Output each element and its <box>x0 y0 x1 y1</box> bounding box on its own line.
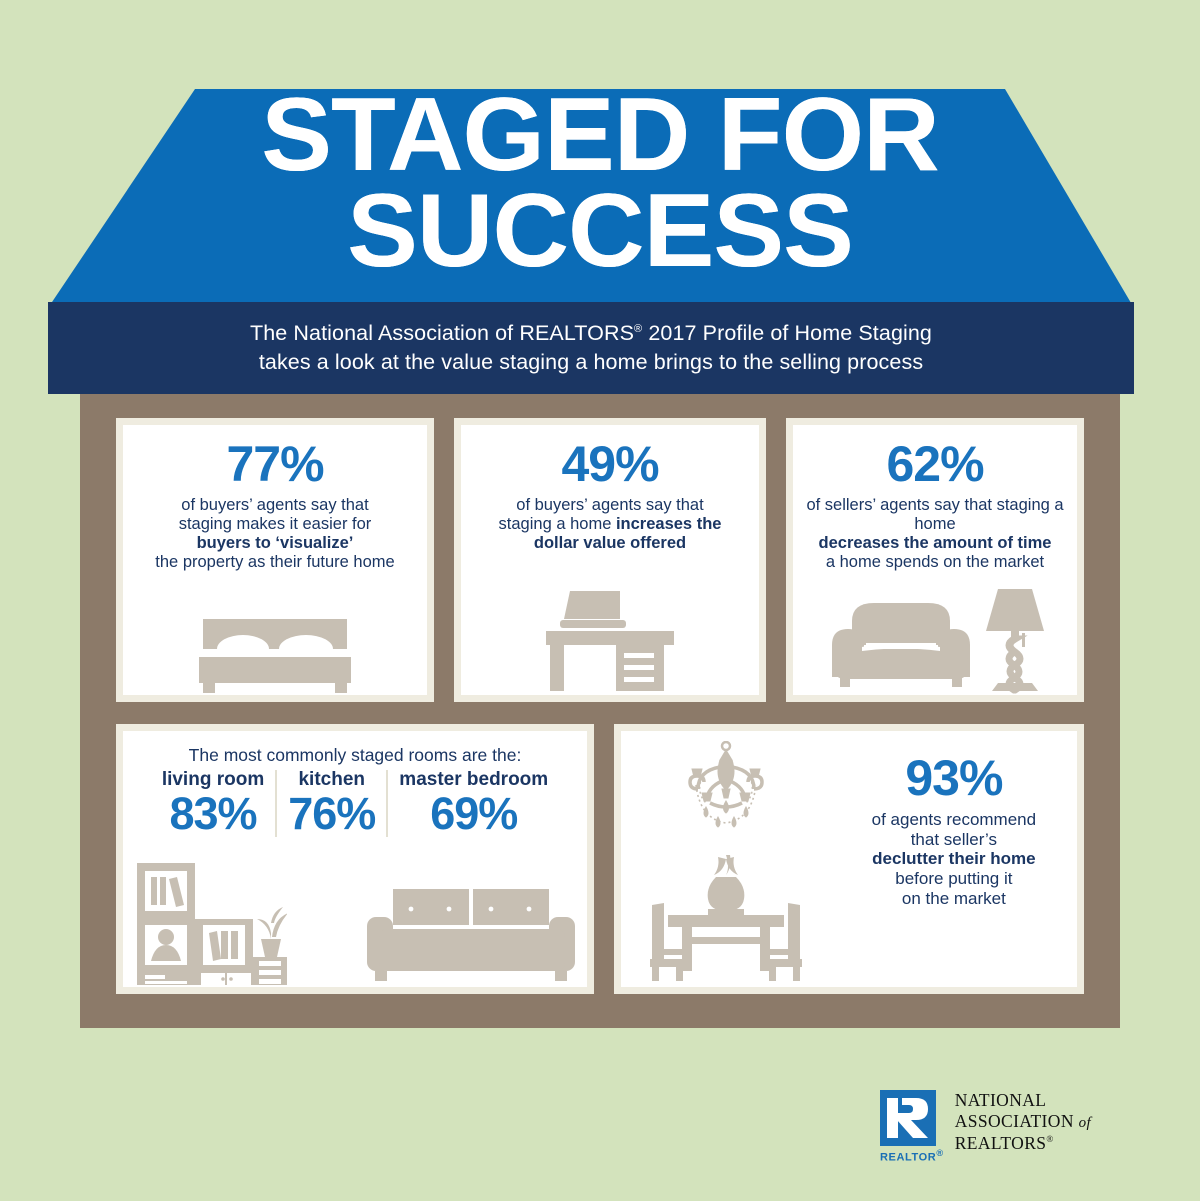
logo-line-2-text: ASSOCIATION <box>955 1111 1074 1131</box>
stat-text-time-on-market: of sellers’ agents say that staging a ho… <box>793 496 1077 573</box>
rooms-row: living room 83% kitchen 76% master bedro… <box>123 770 587 837</box>
logo-line-3-reg: ® <box>1046 1134 1053 1144</box>
room-kitchen: kitchen 76% <box>275 770 386 837</box>
line-e: on the market <box>902 889 1006 908</box>
line-a: of buyers’ agents say that <box>516 496 703 514</box>
line-c: a home spends on the market <box>826 553 1044 571</box>
stats-row-top: 77% of buyers’ agents say that staging m… <box>116 418 1084 702</box>
stat-percent-77: 77% <box>226 439 323 489</box>
room-percent-master-bedroom: 69% <box>430 791 517 837</box>
stat-text-visualize: of buyers’ agents say that staging makes… <box>147 496 402 573</box>
roof-polygon <box>48 89 1134 308</box>
stat-text-declutter: of agents recommend that seller’s declut… <box>864 810 1044 909</box>
room-master-bedroom: master bedroom 69% <box>386 770 559 837</box>
stat-card-most-staged-rooms: The most commonly staged rooms are the: … <box>116 724 594 994</box>
logo-line-2: ASSOCIATION of <box>955 1111 1091 1132</box>
logo-line-2-italic: of <box>1079 1115 1091 1131</box>
subtitle-line-1: The National Association of REALTORS® 20… <box>250 319 932 348</box>
line-a: of agents recommend <box>872 810 1036 829</box>
realtor-mark-block: REALTOR® <box>880 1090 944 1164</box>
subtitle-line-2: takes a look at the value staging a home… <box>259 348 923 377</box>
stat-percent-49: 49% <box>561 439 658 489</box>
room-percent-living-room: 83% <box>169 791 256 837</box>
stat-text-dollar-value: of buyers’ agents say that staging a hom… <box>491 496 730 553</box>
rooms-heading: The most commonly staged rooms are the: <box>189 745 522 766</box>
line-b-bold: increases the <box>616 515 721 533</box>
bookshelf-icon <box>135 861 287 987</box>
stat-card-visualize: 77% of buyers’ agents say that staging m… <box>116 418 434 702</box>
realtor-r-icon <box>880 1090 936 1146</box>
line-c-bold: buyers to ‘visualize’ <box>197 534 354 552</box>
stat-percent-62: 62% <box>886 439 983 489</box>
sofa-icon <box>365 887 577 987</box>
line-c-bold: dollar value offered <box>534 534 686 552</box>
subtitle-banner: The National Association of REALTORS® 20… <box>48 302 1134 394</box>
logo-line-3-text: REALTORS <box>955 1133 1047 1153</box>
realtor-mark-label: REALTOR <box>880 1152 936 1164</box>
line-d: the property as their future home <box>155 553 394 571</box>
stats-grid: 77% of buyers’ agents say that staging m… <box>116 418 1084 994</box>
line-b: staging a home <box>499 515 616 533</box>
realtor-mark-reg: ® <box>936 1148 943 1158</box>
nar-logo: REALTOR® NATIONAL ASSOCIATION of REALTOR… <box>880 1090 1091 1164</box>
nar-logo-wordmark: NATIONAL ASSOCIATION of REALTORS® <box>955 1090 1091 1154</box>
stat-percent-93: 93% <box>905 753 1002 803</box>
subtitle-line-1-text-b: 2017 Profile of Home Staging <box>642 321 932 345</box>
bed-icon <box>195 617 355 695</box>
house-body: 77% of buyers’ agents say that staging m… <box>80 394 1120 1028</box>
stat-card-time-on-market: 62% of sellers’ agents say that staging … <box>786 418 1084 702</box>
line-a: of sellers’ agents say that staging a ho… <box>806 496 1063 533</box>
line-a: of buyers’ agents say that <box>181 496 368 514</box>
chandelier-icon <box>666 741 786 837</box>
dining-table-icon <box>646 853 806 983</box>
line-b: that seller’s <box>911 830 997 849</box>
line-d: before putting it <box>895 869 1012 888</box>
desk-icon <box>542 587 678 695</box>
roof-shape <box>0 0 1200 310</box>
line-c-bold: declutter their home <box>872 849 1035 868</box>
logo-line-1: NATIONAL <box>955 1090 1091 1111</box>
stats-row-bottom: The most commonly staged rooms are the: … <box>116 724 1084 994</box>
stat-card-declutter: 93% of agents recommend that seller’s de… <box>614 724 1084 994</box>
logo-line-3: REALTORS® <box>955 1133 1091 1154</box>
room-living-room: living room 83% <box>151 770 275 837</box>
line-b-bold: decreases the amount of time <box>819 534 1052 552</box>
room-percent-kitchen: 76% <box>288 791 375 837</box>
armchair-lamp-icon <box>810 583 1060 695</box>
stat-card-dollar-value: 49% of buyers’ agents say that staging a… <box>454 418 766 702</box>
line-b: staging makes it easier for <box>179 515 372 533</box>
subtitle-line-1-text-a: The National Association of REALTORS <box>250 321 634 345</box>
